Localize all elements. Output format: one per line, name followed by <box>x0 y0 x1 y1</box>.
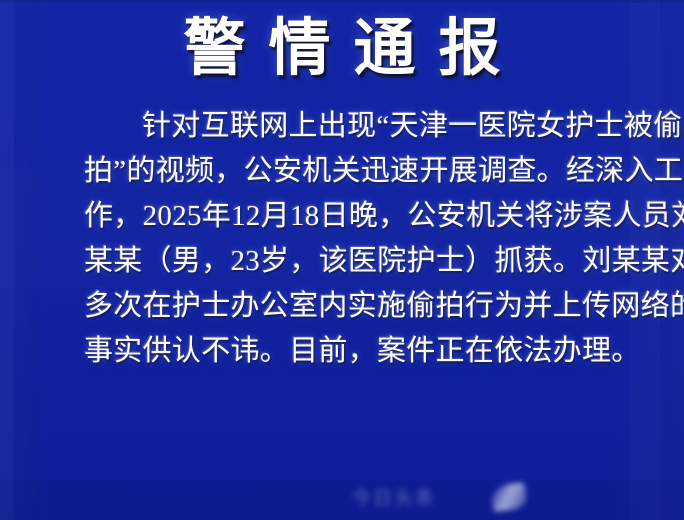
notice-body-line: 事实供认不讳。目前，案件正在依法办理。 <box>84 329 618 374</box>
watermark-label: 今日头条 <box>352 488 436 509</box>
notice-body-line: 某某（男，23岁，该医院护士）抓获。刘某某对 <box>84 239 618 284</box>
compression-band <box>0 480 684 520</box>
police-notice-card: 警情通报 针对互联网上出现“天津一医院女护士被偷 拍”的视频，公安机关迅速开展调… <box>0 0 684 520</box>
notice-body-line: 针对互联网上出现“天津一医院女护士被偷 <box>84 104 618 149</box>
notice-body-line: 拍”的视频，公安机关迅速开展调查。经深入工 <box>84 149 618 194</box>
notice-body: 针对互联网上出现“天津一医院女护士被偷 拍”的视频，公安机关迅速开展调查。经深入… <box>84 104 618 374</box>
compression-band <box>0 0 684 3</box>
notice-title: 警情通报 <box>0 6 684 92</box>
notice-body-line: 作，2025年12月18日晚，公安机关将涉案人员刘 <box>84 194 618 239</box>
source-watermark: 今日头条 <box>352 482 528 516</box>
watermark-swoosh-icon <box>491 482 528 512</box>
notice-body-line: 多次在护士办公室内实施偷拍行为并上传网络的 <box>84 284 618 329</box>
